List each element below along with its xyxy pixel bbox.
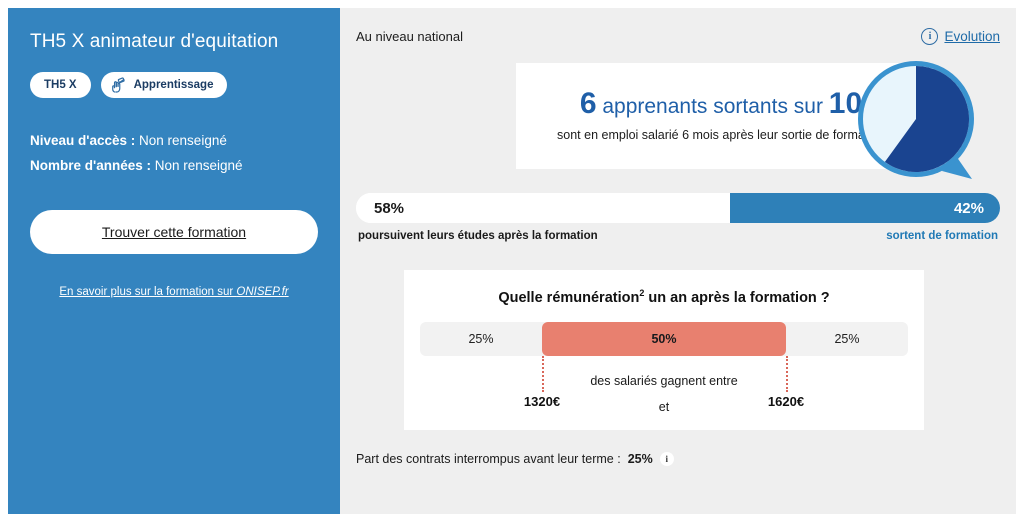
badge-apprentissage-label: Apprentissage: [134, 79, 214, 91]
info-niveau-acces-sep: :: [127, 133, 139, 148]
badge-code-label: TH5 X: [44, 79, 77, 91]
remuneration-title-prefix: Quelle rémunération: [498, 290, 639, 306]
remuneration-amount-high: 1620€: [768, 394, 804, 409]
hero-text-middle: apprenants sortants sur: [597, 95, 829, 118]
find-formation-button[interactable]: Trouver cette formation: [30, 210, 318, 254]
onisep-link-source: ONISEP.fr: [236, 286, 288, 298]
onisep-link[interactable]: En savoir plus sur la formation sur ONIS…: [59, 286, 288, 298]
remuneration-title: Quelle rémunération2 un an après la form…: [420, 288, 908, 306]
progress-left-legend: poursuivent leurs études après la format…: [358, 230, 598, 242]
info-nombre-annees-value: Non renseigné: [155, 158, 243, 173]
info-niveau-acces-label: Niveau d'accès: [30, 133, 127, 148]
onisep-link-prefix: En savoir plus sur la formation sur: [59, 286, 236, 298]
hero-number-left: 6: [580, 87, 597, 120]
info-niveau-acces: Niveau d'accès : Non renseigné: [30, 128, 318, 153]
remuneration-segment-low: 25%: [420, 322, 542, 356]
remuneration-segment-high: 25%: [786, 322, 908, 356]
progress-right-value: 42%: [954, 200, 984, 217]
badge-code[interactable]: TH5 X: [30, 72, 91, 98]
employment-pie-chart: [854, 57, 982, 185]
remuneration-between-text: des salariés gagnent entre et: [420, 368, 908, 420]
remuneration-segment-mid: 50%: [542, 322, 786, 356]
remuneration-segment-mid-label: 50%: [651, 332, 676, 346]
formation-sidebar: TH5 X animateur d'equitation TH5 X: [8, 8, 340, 514]
badge-group: TH5 X Apprentissage: [30, 72, 318, 98]
evolution-label: Evolution: [944, 29, 1000, 44]
find-formation-label: Trouver cette formation: [102, 224, 246, 240]
evolution-link[interactable]: i Evolution: [921, 28, 1000, 45]
progress-legend: poursuivent leurs études après la format…: [356, 230, 1000, 242]
remuneration-amount-low: 1320€: [524, 394, 560, 409]
remuneration-segment-low-label: 25%: [468, 332, 493, 346]
info-niveau-acces-value: Non renseigné: [139, 133, 227, 148]
progress-segment-leaving: 42%: [730, 193, 1000, 223]
page-root: TH5 X animateur d'equitation TH5 X: [0, 0, 1024, 522]
scope-label: Au niveau national: [356, 29, 463, 44]
remuneration-between-line1: des salariés gagnent entre: [420, 368, 908, 394]
remuneration-footer: des salariés gagnent entre et 1320€ 1620…: [420, 362, 908, 424]
progress-left-value: 58%: [374, 200, 404, 217]
progress-right-legend: sortent de formation: [886, 230, 998, 242]
panel-header: Au niveau national i Evolution: [340, 8, 1016, 45]
statistics-panel: Au niveau national i Evolution 6 apprena…: [340, 8, 1016, 514]
hand-icon: [109, 76, 128, 95]
remuneration-between-line2: et: [420, 394, 908, 420]
hero-stat-block: 6 apprenants sortants sur 10 sont en emp…: [354, 63, 1002, 179]
hero-subtitle: sont en emploi salarié 6 mois après leur…: [557, 127, 885, 144]
info-icon[interactable]: i: [660, 452, 674, 466]
interrupted-contracts-value: 25%: [628, 452, 653, 466]
info-circle-icon: i: [921, 28, 938, 45]
info-nombre-annees-sep: :: [143, 158, 155, 173]
outcome-progress-bar[interactable]: 58% 42%: [356, 193, 1000, 223]
remuneration-title-suffix: un an après la formation ?: [644, 290, 829, 306]
onisep-link-wrapper: En savoir plus sur la formation sur ONIS…: [30, 282, 318, 300]
interrupted-contracts-note: Part des contrats interrompus avant leur…: [356, 452, 1000, 466]
info-nombre-annees-label: Nombre d'années: [30, 158, 143, 173]
badge-apprentissage[interactable]: Apprentissage: [101, 72, 228, 98]
remuneration-card: Quelle rémunération2 un an après la form…: [404, 270, 924, 430]
hero-headline: 6 apprenants sortants sur 10: [580, 89, 862, 122]
interrupted-contracts-label: Part des contrats interrompus avant leur…: [356, 452, 621, 466]
progress-segment-continuing: 58%: [356, 193, 730, 223]
remuneration-segment-high-label: 25%: [834, 332, 859, 346]
info-nombre-annees: Nombre d'années : Non renseigné: [30, 153, 318, 178]
remuneration-distribution-bar: 25% 50% 25%: [420, 322, 908, 356]
page-title: TH5 X animateur d'equitation: [30, 30, 318, 54]
progress-block: 58% 42% poursuivent leurs études après l…: [356, 193, 1000, 242]
